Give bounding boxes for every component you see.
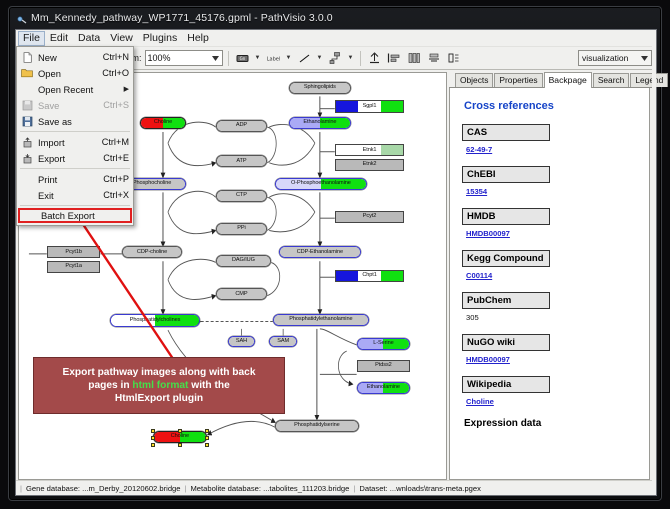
pathway-gene-label: Ptdss2: [375, 363, 392, 369]
pathway-node-label: L-Serine: [373, 341, 393, 347]
xref-link[interactable]: HMDB00097: [466, 355, 510, 364]
align-center-icon[interactable]: [406, 50, 423, 67]
xref-source-kegg-compound: Kegg Compound: [462, 250, 550, 267]
xref-value-cas[interactable]: 62-49-7: [466, 145, 639, 154]
menu-file[interactable]: File: [18, 31, 45, 46]
selection-handle[interactable]: [151, 443, 155, 447]
callout-line-3: HtmlExport plugin: [115, 393, 203, 404]
xref-link[interactable]: 15354: [466, 187, 487, 196]
tab-search[interactable]: Search: [593, 73, 630, 87]
tab-properties[interactable]: Properties: [494, 73, 542, 87]
pathway-gene-ptdss2[interactable]: Ptdss2: [357, 360, 411, 372]
file-menu-item-label: Import: [35, 137, 102, 148]
side-panel-scrollbar[interactable]: [652, 30, 656, 495]
file-menu-item-label: Open: [35, 68, 102, 79]
pathway-node-cdp-choline[interactable]: CDP-choline: [122, 246, 182, 258]
xref-value-wikipedia[interactable]: Choline: [466, 397, 639, 406]
application-window: Mm_Kennedy_pathway_WP1771_45176.gpml - P…: [8, 6, 662, 501]
align-distribute-icon[interactable]: [426, 50, 443, 67]
toolbar-separator: [228, 51, 229, 66]
interaction-tool-icon[interactable]: [327, 50, 344, 67]
pathway-node-label: Sphingolipids: [304, 85, 336, 91]
pathway-gene-pcyt2[interactable]: Pcyt2: [335, 211, 405, 223]
file-menu-item-shortcut: Ctrl+O: [102, 68, 129, 78]
visualization-value: visualization: [582, 53, 628, 63]
xref-value-kegg-compound[interactable]: C00114: [466, 271, 639, 280]
xref-link[interactable]: Choline: [466, 397, 494, 406]
pathway-node-label: SAM: [277, 339, 289, 345]
menu-separator: [20, 205, 130, 206]
tab-legend[interactable]: Legend: [630, 73, 668, 87]
file-menu-item-shortcut: Ctrl+P: [103, 174, 129, 184]
pathway-gene-chpt1[interactable]: Chpt1: [335, 270, 405, 282]
pathway-node-dag-iug[interactable]: DAG/IUG: [216, 255, 272, 267]
file-menu-item-label: Print: [35, 174, 103, 185]
xref-source-pubchem: PubChem: [462, 292, 550, 309]
pathway-node-phosphatidylserine[interactable]: Phosphatidylserine: [275, 420, 358, 432]
chevron-down-icon-2: [641, 53, 648, 63]
align-top-icon[interactable]: [366, 50, 383, 67]
file-menu-item-label: Open Recent: [35, 84, 124, 95]
menu-separator: [20, 168, 130, 169]
status-sep-1: |: [185, 484, 187, 493]
file-menu-item-open-recent[interactable]: Open Recent▶: [17, 81, 133, 97]
xref-source-wikipedia: Wikipedia: [462, 376, 550, 393]
callout-line-1: Export pathway images along with back: [62, 367, 255, 378]
backpage-content: Cross references CAS62-49-7ChEBI15354HMD…: [449, 88, 650, 480]
xref-source-nugo-wiki: NuGO wiki: [462, 334, 550, 351]
annotation-callout: Export pathway images along with back pa…: [33, 357, 285, 414]
pathway-gene-etnk1[interactable]: Etnk1: [335, 144, 405, 156]
menu-edit[interactable]: Edit: [45, 31, 73, 46]
menu-item-no-icon: [19, 173, 35, 186]
align-left-icon[interactable]: [386, 50, 403, 67]
status-sep-2: |: [353, 484, 355, 493]
cross-references-list: CAS62-49-7ChEBI15354HMDBHMDB00097Kegg Co…: [462, 124, 639, 406]
pathway-gene-etnk2[interactable]: Etnk2: [335, 159, 405, 171]
status-metabolite-database: Metabolite database: ...tabolites_111203…: [190, 484, 349, 493]
status-dataset: Dataset: ...wnloads\trans-meta.pgex: [359, 484, 481, 493]
menu-plugins[interactable]: Plugins: [138, 31, 182, 46]
pathvisio-icon: [17, 13, 28, 24]
file-menu-item-save: SaveCtrl+S: [17, 97, 133, 113]
file-menu-item-label: Save as: [35, 116, 129, 127]
xref-source-cas: CAS: [462, 124, 550, 141]
chevron-down-icon: [212, 53, 219, 63]
line-dropdown-icon[interactable]: ▼: [316, 55, 324, 61]
menu-item-no-icon: [22, 209, 38, 222]
selection-handle[interactable]: [205, 436, 209, 440]
label-dropdown-icon[interactable]: ▼: [285, 55, 293, 61]
file-menu-item-new[interactable]: NewCtrl+N: [17, 49, 133, 65]
new-file-icon: [19, 51, 35, 64]
file-menu-item-save-as[interactable]: Save as: [17, 113, 133, 129]
pathway-node-phosphatidylethanolamine[interactable]: Phosphatidylethanolamine: [273, 314, 368, 326]
pathway-node-ppi[interactable]: PPi: [216, 223, 268, 235]
pathway-node-label: O-Phosphoethanolamine: [291, 181, 351, 187]
status-sep-0: |: [20, 484, 22, 493]
pathway-gene-label: Chpt1: [362, 273, 376, 279]
pathway-node-cmp[interactable]: CMP: [216, 288, 268, 300]
tab-objects[interactable]: Objects: [455, 73, 493, 87]
pathway-node-label: CDP-Ethanolamine: [297, 250, 343, 256]
pathway-node-choline[interactable]: Choline: [153, 431, 207, 443]
pathway-gene-pcyt1b[interactable]: Pcyt1b: [47, 246, 101, 258]
pathway-gene-label: Etnk1: [363, 148, 377, 154]
pathway-node-label: Phosphatidylethanolamine: [289, 317, 352, 323]
callout-line-2-b: with the: [188, 380, 229, 391]
selection-handle[interactable]: [151, 436, 155, 440]
selection-handle[interactable]: [178, 443, 182, 447]
save-as-icon: [19, 115, 35, 128]
datanode-tool-icon[interactable]: Gn: [234, 50, 251, 67]
side-panel-tabstrip: Objects Properties Backpage Search Legen…: [449, 72, 654, 88]
pathway-node-phosphatidylcholines[interactable]: Phosphatidylcholines: [110, 314, 199, 327]
pathway-gene-label: Pcyt2: [363, 214, 377, 220]
pathway-node-choline[interactable]: Choline: [140, 117, 186, 129]
selection-handle[interactable]: [205, 429, 209, 433]
title-bar: Mm_Kennedy_pathway_WP1771_45176.gpml - P…: [9, 7, 661, 29]
menu-data[interactable]: Data: [73, 31, 105, 46]
file-menu-item-export[interactable]: ExportCtrl+E: [17, 150, 133, 166]
callout-line-2-highlight: html format: [132, 380, 188, 391]
visualization-combo[interactable]: visualization: [578, 50, 652, 66]
pathway-node-o-phosphoethanolamine[interactable]: O-Phosphoethanolamine: [275, 178, 366, 190]
menu-bar: File Edit Data View Plugins Help: [16, 30, 656, 47]
pathway-node-label: Ethanolamine: [303, 120, 336, 126]
pathway-node-ethanolamine[interactable]: Ethanolamine: [289, 117, 351, 129]
xref-value-nugo-wiki[interactable]: HMDB00097: [466, 355, 639, 364]
toolbar-separator-2: [360, 51, 361, 66]
pathway-node-cdp-ethanolamine[interactable]: CDP-Ethanolamine: [279, 246, 360, 258]
menu-separator: [20, 131, 130, 132]
pathway-gene-label: Pcyt1b: [65, 250, 82, 256]
pathway-node-label: CDP-choline: [137, 250, 167, 256]
menu-item-no-icon: [19, 83, 35, 96]
pathway-node-label: Choline: [171, 434, 189, 440]
pathway-node-l-serine[interactable]: L-Serine: [357, 338, 411, 350]
pathway-node-label: Ethanolamine: [367, 385, 400, 391]
pathway-node-label: PPi: [237, 226, 245, 232]
callout-line-2-a: pages in: [88, 380, 132, 391]
file-menu-item-shortcut: Ctrl+M: [102, 137, 129, 147]
pathway-node-label: CMP: [235, 292, 247, 298]
file-menu-item-shortcut: Ctrl+X: [103, 190, 129, 200]
menu-view[interactable]: View: [105, 31, 138, 46]
xref-value-chebi[interactable]: 15354: [466, 187, 639, 196]
file-menu-item-import[interactable]: ImportCtrl+M: [17, 134, 133, 150]
pathway-node-label: DAG/IUG: [232, 258, 255, 264]
status-gene-database: Gene database: ...m_Derby_20120602.bridg…: [26, 484, 181, 493]
file-menu-item-shortcut: Ctrl+E: [103, 153, 129, 163]
pathway-gene-label: Pcyt1a: [65, 264, 82, 270]
zoom-combo[interactable]: 100%: [145, 50, 223, 66]
selection-handle[interactable]: [151, 429, 155, 433]
svg-text:Label: Label: [266, 57, 280, 63]
xref-link[interactable]: HMDB00097: [466, 229, 510, 238]
side-panel: Objects Properties Backpage Search Legen…: [448, 70, 656, 480]
pathway-gene-sgpl1[interactable]: Sgpl1: [335, 100, 405, 113]
pathway-node-sah[interactable]: SAH: [228, 336, 256, 347]
xref-link[interactable]: 62-49-7: [466, 145, 492, 154]
menu-item-no-icon: [19, 189, 35, 202]
selection-handle[interactable]: [178, 429, 182, 433]
window-title: Mm_Kennedy_pathway_WP1771_45176.gpml - P…: [31, 12, 333, 24]
xref-value-pubchem: 305: [466, 313, 639, 322]
datanode-dropdown-icon[interactable]: ▼: [254, 55, 262, 61]
file-menu-dropdown[interactable]: NewCtrl+NOpenCtrl+OOpen Recent▶SaveCtrl+…: [16, 46, 134, 226]
pathway-gene-pcyt1a[interactable]: Pcyt1a: [47, 261, 101, 273]
xref-link[interactable]: C00114: [466, 271, 492, 280]
annotation-callout-text: Export pathway images along with back pa…: [62, 366, 255, 405]
file-menu-item-shortcut: Ctrl+S: [103, 100, 129, 110]
tab-backpage[interactable]: Backpage: [544, 72, 592, 88]
file-menu-item-label: Exit: [35, 190, 103, 201]
status-bar: | Gene database: ...m_Derby_20120602.bri…: [16, 480, 656, 495]
import-icon: [19, 136, 35, 149]
export-icon: [19, 152, 35, 165]
pathway-node-ctp[interactable]: CTP: [216, 190, 268, 202]
file-menu-item-print[interactable]: PrintCtrl+P: [17, 171, 133, 187]
pathway-node-label: SAH: [236, 339, 247, 345]
svg-text:Gn: Gn: [239, 56, 245, 61]
pathway-node-label: ADP: [236, 123, 247, 129]
cross-references-title: Cross references: [464, 100, 639, 112]
pathway-node-atp[interactable]: ATP: [216, 155, 268, 167]
pathway-node-sphingolipids[interactable]: Sphingolipids: [289, 82, 351, 94]
pathway-node-label: ATP: [236, 159, 246, 165]
file-menu-item-exit[interactable]: ExitCtrl+X: [17, 187, 133, 203]
file-menu-item-label: New: [35, 52, 103, 63]
submenu-arrow-icon: ▶: [124, 85, 129, 93]
screenshot-root: Mm_Kennedy_pathway_WP1771_45176.gpml - P…: [0, 0, 670, 509]
line-tool-icon[interactable]: [296, 50, 313, 67]
zoom-value: 100%: [148, 53, 171, 63]
toolbar-right-group: visualization: [578, 50, 652, 66]
xref-source-hmdb: HMDB: [462, 208, 550, 225]
file-menu-item-open[interactable]: OpenCtrl+O: [17, 65, 133, 81]
pathway-node-adp[interactable]: ADP: [216, 120, 268, 132]
menu-help[interactable]: Help: [182, 31, 214, 46]
file-menu-item-label: Batch Export: [38, 210, 126, 221]
save-icon: [19, 99, 35, 112]
pathway-gene-label: Sgpl1: [363, 104, 377, 110]
file-menu-item-batch-export[interactable]: Batch Export: [18, 208, 132, 223]
pathway-node-label: Phosphatidylcholines: [130, 318, 181, 324]
pathway-node-label: Choline: [154, 120, 172, 126]
pathway-node-ethanolamine[interactable]: Ethanolamine: [357, 382, 411, 394]
pathway-node-label: CTP: [236, 193, 247, 199]
selection-handle[interactable]: [205, 443, 209, 447]
interaction-dropdown-icon[interactable]: ▼: [347, 55, 355, 61]
file-menu-item-label: Save: [35, 100, 103, 111]
pathway-node-label: Phosphatidylserine: [294, 423, 339, 429]
label-tool-icon[interactable]: Label: [265, 50, 282, 67]
file-menu-item-label: Export: [35, 153, 103, 164]
pathway-node-label: Phosphocholine: [133, 181, 171, 187]
open-folder-icon: [19, 67, 35, 80]
xref-value-hmdb[interactable]: HMDB00097: [466, 229, 639, 238]
xref-source-chebi: ChEBI: [462, 166, 550, 183]
expression-data-title: Expression data: [464, 418, 639, 429]
file-menu-item-shortcut: Ctrl+N: [103, 52, 129, 62]
pathway-gene-label: Etnk2: [363, 162, 377, 168]
pathway-node-sam[interactable]: SAM: [269, 336, 297, 347]
stack-icon[interactable]: [446, 50, 463, 67]
